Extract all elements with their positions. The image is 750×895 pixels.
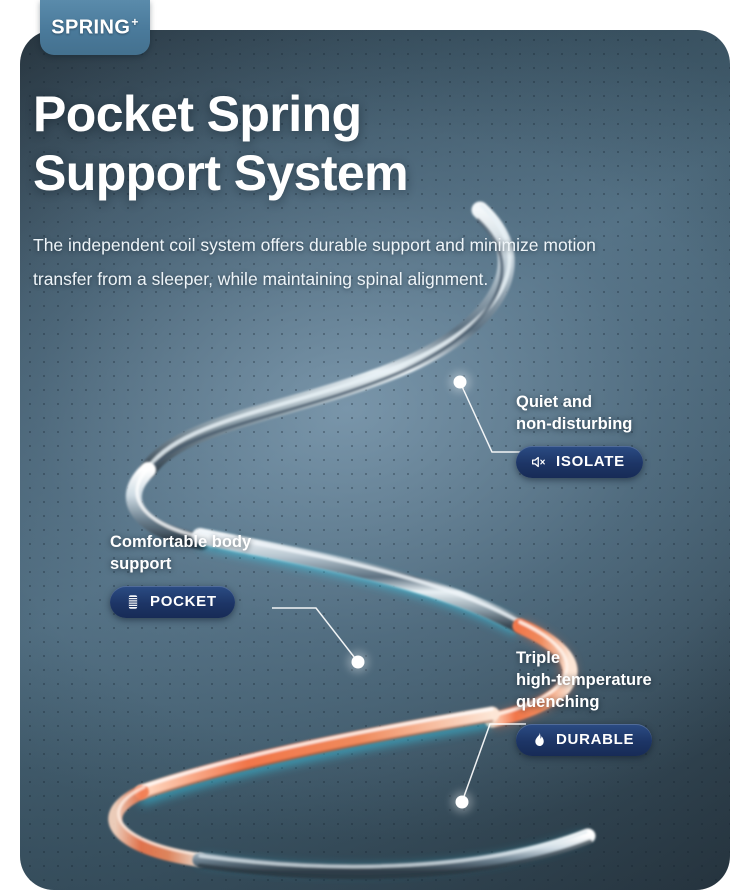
- callout-durable: Triple high-temperature quenching DURABL…: [516, 648, 652, 756]
- pill-durable[interactable]: DURABLE: [516, 724, 652, 756]
- product-feature-card: SPRING+ Pocket Spring Support System The…: [0, 0, 750, 895]
- title-line-1: Pocket Spring: [33, 86, 361, 142]
- badge-text: SPRING: [51, 17, 130, 39]
- pill-isolate-label: ISOLATE: [556, 453, 625, 470]
- marker-dot-pocket: [352, 656, 365, 669]
- spring-plus-badge[interactable]: SPRING+: [40, 0, 150, 55]
- callout-pocket-title: Comfortable body support: [110, 532, 251, 576]
- pill-isolate[interactable]: ISOLATE: [516, 446, 643, 478]
- speaker-mute-icon: [530, 453, 548, 471]
- callout-isolate: Quiet and non-disturbing ISOLATE: [516, 392, 643, 478]
- coil-spring-icon: [124, 593, 142, 611]
- callout-durable-title: Triple high-temperature quenching: [516, 648, 652, 714]
- title-line-2: Support System: [33, 145, 408, 201]
- marker-dot-isolate: [454, 376, 467, 389]
- pill-pocket-label: POCKET: [150, 593, 217, 610]
- marker-dot-durable: [456, 796, 469, 809]
- pill-durable-label: DURABLE: [556, 731, 634, 748]
- page-title: Pocket Spring Support System: [33, 85, 408, 203]
- leader-line-pocket: [272, 608, 358, 662]
- subtitle-text: The independent coil system offers durab…: [33, 228, 633, 296]
- flame-icon: [530, 731, 548, 749]
- callout-pocket: Comfortable body support POCKET: [110, 532, 251, 618]
- callout-isolate-title: Quiet and non-disturbing: [516, 392, 643, 436]
- pill-pocket[interactable]: POCKET: [110, 586, 235, 618]
- badge-superscript: +: [131, 15, 138, 29]
